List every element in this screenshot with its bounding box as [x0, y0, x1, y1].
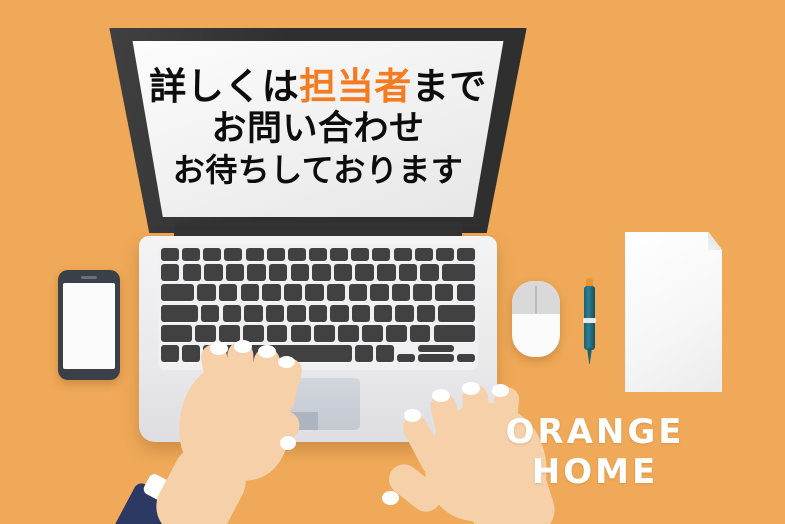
keyboard-key[interactable]: [314, 325, 335, 342]
keyboard-key[interactable]: [224, 248, 242, 261]
keyboard-key[interactable]: [370, 284, 388, 301]
keyboard-key[interactable]: [243, 325, 264, 342]
keyboard-key[interactable]: [262, 284, 280, 301]
keyboard-key[interactable]: [219, 325, 240, 342]
keyboard-key[interactable]: [410, 325, 431, 342]
keyboard-key[interactable]: [195, 325, 216, 342]
poster-canvas: 詳しくは担当者まで お問い合わせ お待ちしております: [0, 0, 785, 524]
keyboard-key[interactable]: [246, 248, 264, 261]
keyboard-key-capslock[interactable]: [161, 305, 198, 322]
keyboard-key[interactable]: [241, 284, 259, 301]
right-nail-ring: [432, 389, 450, 402]
phone-speaker-icon: [81, 276, 97, 279]
keyboard-key[interactable]: [266, 305, 284, 322]
pen-tip-icon: [587, 348, 592, 364]
keyboard-key[interactable]: [219, 284, 237, 301]
keyboard-key[interactable]: [287, 305, 305, 322]
keyboard-key-arrow-right[interactable]: [457, 354, 475, 362]
brand-line-1: ORANGE: [500, 412, 690, 452]
pen-metal-band: [583, 318, 596, 323]
smartphone: [58, 270, 120, 380]
keyboard-key[interactable]: [201, 305, 219, 322]
keyboard-key[interactable]: [374, 305, 392, 322]
right-nail-thumb: [382, 491, 399, 505]
keyboard-key[interactable]: [204, 264, 222, 281]
keyboard-arrow-cluster[interactable]: [418, 345, 454, 362]
screen-text-highlight: 担当者: [299, 65, 412, 108]
keyboard-key[interactable]: [349, 284, 367, 301]
keyboard-key[interactable]: [244, 305, 262, 322]
keyboard-key[interactable]: [309, 248, 327, 261]
keyboard-key-arrow-down[interactable]: [418, 354, 454, 362]
keyboard-key[interactable]: [399, 264, 417, 281]
keyboard-key[interactable]: [330, 248, 348, 261]
phone-screen: [63, 283, 115, 369]
keyboard-key[interactable]: [413, 284, 431, 301]
keyboard-key[interactable]: [161, 264, 179, 281]
left-nail-middle: [234, 340, 252, 353]
keyboard-key[interactable]: [291, 264, 309, 281]
keyboard-key[interactable]: [309, 305, 327, 322]
paper-folded-corner-icon: [708, 232, 722, 250]
keyboard-key[interactable]: [247, 264, 265, 281]
keyboard-key-enter[interactable]: [438, 305, 475, 322]
keyboard-row-bottom[interactable]: [161, 325, 475, 342]
screen-text-line-2: お問い合わせ: [211, 111, 424, 149]
keyboard-key[interactable]: [457, 248, 475, 261]
keyboard-key[interactable]: [362, 325, 383, 342]
keyboard-key[interactable]: [415, 248, 433, 261]
keyboard-key[interactable]: [338, 325, 359, 342]
right-nail-index: [492, 384, 509, 397]
keyboard-key[interactable]: [288, 248, 306, 261]
left-nail-pinky: [278, 356, 295, 368]
left-nail-index: [210, 342, 228, 355]
keyboard-key[interactable]: [223, 305, 241, 322]
keyboard-key-arrow-left[interactable]: [397, 354, 415, 362]
left-nail-thumb: [280, 436, 296, 450]
screen-text-line-1-after: まで: [412, 65, 487, 108]
right-nail-middle: [462, 382, 480, 395]
blank-paper-sheet: [625, 232, 722, 392]
screen-text-line-1: 詳しくは担当者まで: [149, 67, 487, 107]
keyboard-key[interactable]: [183, 264, 201, 281]
keyboard-key[interactable]: [284, 284, 302, 301]
keyboard-key[interactable]: [305, 284, 323, 301]
keyboard-key-option-right[interactable]: [376, 345, 394, 362]
keyboard-row-top[interactable]: [161, 284, 475, 301]
keyboard-row-numbers[interactable]: [161, 264, 475, 281]
screen-text-line-3: お待ちしております: [173, 153, 464, 188]
screen-text-line-1-before: 詳しくは: [149, 65, 299, 108]
keyboard-key[interactable]: [351, 248, 369, 261]
keyboard-key[interactable]: [372, 248, 390, 261]
keyboard-key[interactable]: [197, 284, 215, 301]
keyboard-key[interactable]: [392, 284, 410, 301]
keyboard-key[interactable]: [394, 248, 412, 261]
keyboard-key[interactable]: [226, 264, 244, 281]
keyboard-row-function[interactable]: [161, 248, 475, 261]
keyboard-key-backspace[interactable]: [442, 264, 475, 281]
keyboard-key[interactable]: [161, 248, 179, 261]
keyboard-key-shift-right[interactable]: [434, 325, 475, 342]
keyboard-key[interactable]: [420, 264, 438, 281]
keyboard-key[interactable]: [386, 325, 407, 342]
brand-line-2: HOME: [500, 452, 690, 492]
left-hand: [150, 348, 330, 524]
keyboard-key-arrow-up[interactable]: [418, 345, 454, 353]
ballpoint-pen: [583, 278, 596, 364]
keyboard-key[interactable]: [334, 264, 352, 281]
keyboard-key-shift-left[interactable]: [161, 325, 192, 342]
keyboard-key[interactable]: [269, 264, 287, 281]
keyboard-key[interactable]: [182, 248, 200, 261]
keyboard-key[interactable]: [395, 305, 413, 322]
keyboard-key[interactable]: [435, 284, 453, 301]
keyboard-key[interactable]: [377, 264, 395, 281]
keyboard-key[interactable]: [267, 325, 288, 342]
keyboard-key[interactable]: [327, 284, 345, 301]
keyboard-key[interactable]: [436, 248, 454, 261]
right-nail-pinky: [404, 409, 421, 422]
keyboard-key-command-right[interactable]: [355, 345, 373, 362]
computer-mouse[interactable]: [512, 281, 560, 357]
keyboard-key[interactable]: [352, 305, 370, 322]
brand-logo-text: ORANGE HOME: [500, 412, 690, 492]
keyboard-key[interactable]: [457, 284, 475, 301]
keyboard-row-home[interactable]: [161, 305, 475, 322]
mouse-top-surface: [512, 281, 560, 314]
keyboard-key-tab[interactable]: [161, 284, 194, 301]
keyboard-key[interactable]: [330, 305, 348, 322]
keyboard-key[interactable]: [267, 248, 285, 261]
left-nail-ring: [258, 345, 276, 358]
keyboard-key[interactable]: [312, 264, 330, 281]
keyboard-key[interactable]: [355, 264, 373, 281]
keyboard-key[interactable]: [203, 248, 221, 261]
mouse-button-divider: [535, 286, 537, 314]
keyboard-key[interactable]: [417, 305, 435, 322]
laptop-screen: 詳しくは担当者まで お問い合わせ お待ちしております: [119, 41, 517, 217]
keyboard-key[interactable]: [291, 325, 312, 342]
